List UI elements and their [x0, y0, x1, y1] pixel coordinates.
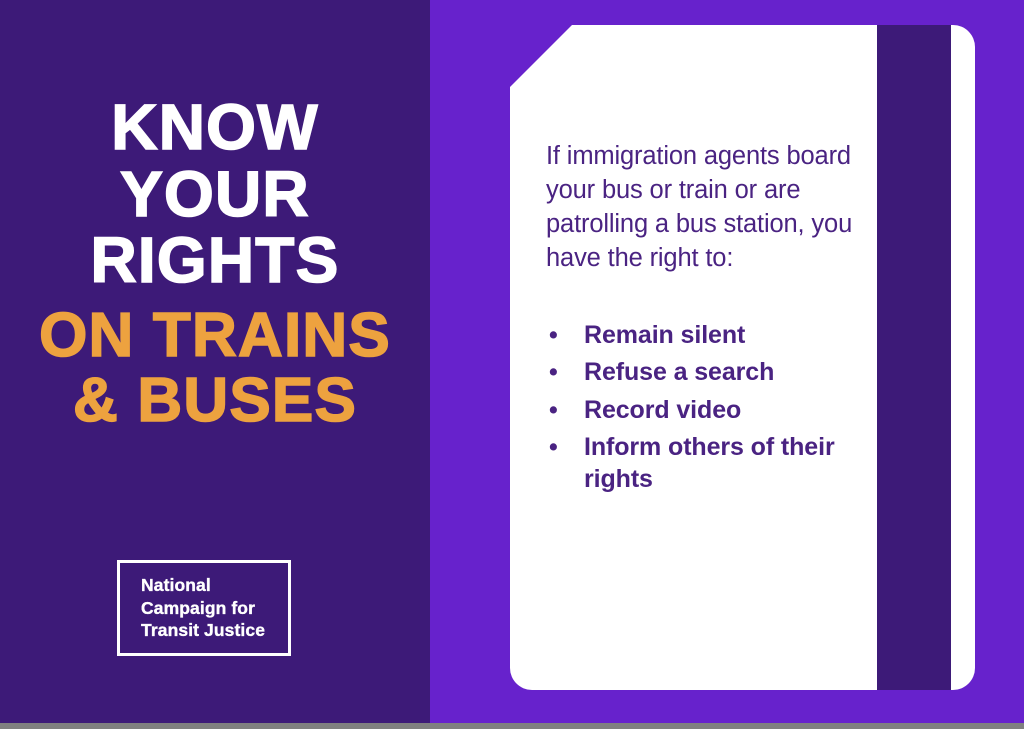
headline-line-4: ON TRAINS — [0, 306, 430, 367]
list-item-label: Refuse a search — [584, 358, 774, 386]
logo-line-3: Transit Justice — [141, 620, 265, 640]
card-content: If immigration agents board your bus or … — [546, 140, 856, 501]
list-item: • Remain silent — [546, 320, 856, 352]
organization-logo: National Campaign for Transit Justice — [117, 560, 291, 656]
bullet-icon: • — [549, 320, 558, 352]
bottom-strip — [0, 723, 1024, 729]
headline-block: KNOW YOUR RIGHTS ON TRAINS & BUSES — [0, 96, 430, 432]
bullet-icon: • — [549, 357, 558, 389]
bullet-icon: • — [549, 432, 558, 464]
list-item: • Inform others of their rights — [546, 432, 856, 495]
headline-line-2: YOUR — [0, 163, 430, 226]
rights-list: • Remain silent • Refuse a search • Reco… — [546, 320, 856, 496]
list-item-label: Remain silent — [584, 321, 745, 349]
card-paragraph: If immigration agents board your bus or … — [546, 140, 856, 276]
poster-canvas: KNOW YOUR RIGHTS ON TRAINS & BUSES Natio… — [0, 0, 1024, 729]
headline-line-3: RIGHTS — [0, 229, 430, 292]
organization-logo-text: National Campaign for Transit Justice — [120, 574, 265, 641]
list-item: • Refuse a search — [546, 357, 856, 389]
headline-line-1: KNOW — [0, 96, 430, 159]
logo-line-1: National — [141, 575, 211, 595]
headline-line-5: & BUSES — [0, 371, 430, 432]
bullet-icon: • — [549, 395, 558, 427]
left-panel: KNOW YOUR RIGHTS ON TRAINS & BUSES Natio… — [0, 0, 430, 723]
list-item-label: Record video — [584, 396, 741, 424]
notebook-card-spine — [877, 25, 951, 690]
list-item: • Record video — [546, 395, 856, 427]
list-item-label: Inform others of their rights — [584, 433, 835, 493]
logo-line-2: Campaign for — [141, 598, 255, 618]
